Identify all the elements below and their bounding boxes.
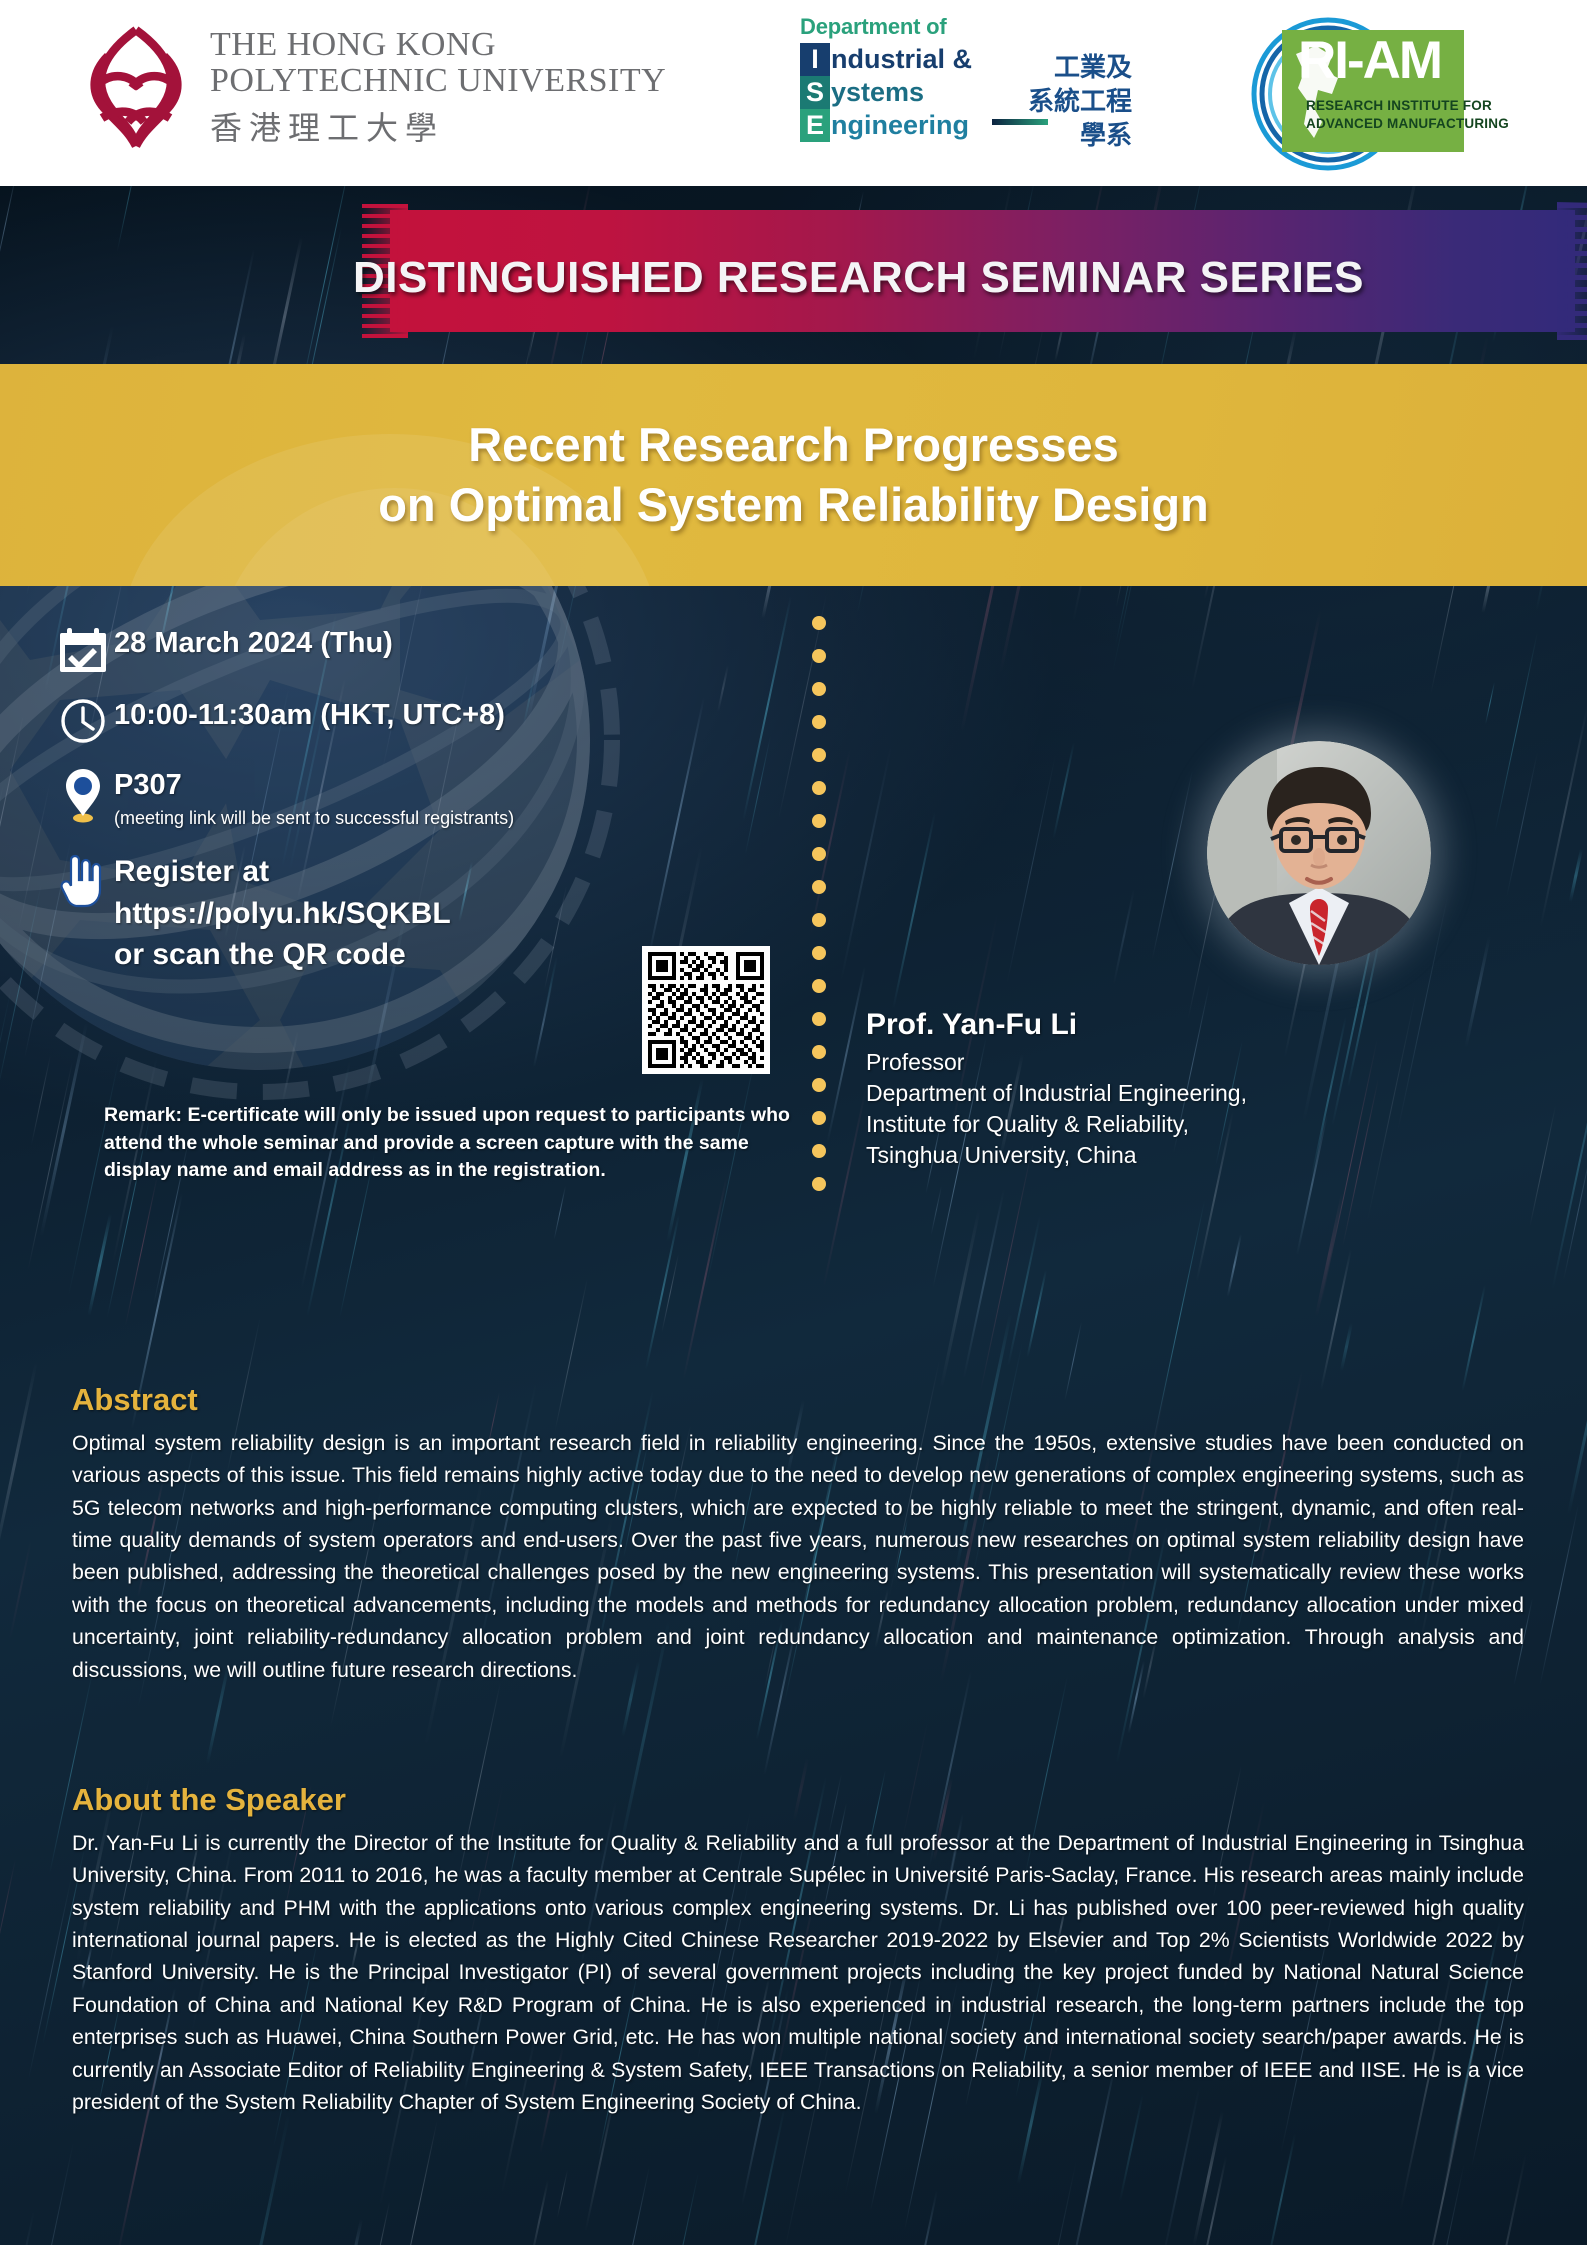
clock-icon [52, 696, 114, 744]
ise-chinese-line2: 系統工程 [1022, 86, 1132, 120]
event-date-row: 28 March 2024 (Thu) [52, 624, 782, 674]
about-speaker-section: About the Speaker Dr. Yan-Fu Li is curre… [72, 1782, 1524, 2118]
pointing-hand-icon [52, 851, 114, 909]
polyu-name-line2: POLYTECHNIC UNIVERSITY [210, 63, 666, 99]
riam-subtitle-line2: ADVANCED MANUFACTURING [1306, 116, 1509, 131]
certificate-remark: Remark: E-certificate will only be issue… [104, 1102, 804, 1185]
ise-word-industrial: ndustrial & [831, 43, 972, 76]
seminar-series-banner: DISTINGUISHED RESEARCH SEMINAR SERIES [0, 186, 1587, 364]
ise-department-logo: Department of I S E ndustrial & ystems n… [800, 14, 972, 142]
riam-subtitle-line1: RESEARCH INSTITUTE FOR [1306, 98, 1492, 113]
seminar-series-label: DISTINGUISHED RESEARCH SEMINAR SERIES [353, 253, 1364, 303]
ise-chinese-line1: 工業及 [1022, 52, 1132, 86]
abstract-section: Abstract Optimal system reliability desi… [72, 1382, 1524, 1686]
registration-qr-code[interactable] [642, 946, 770, 1074]
abstract-heading: Abstract [72, 1382, 1524, 1418]
register-url[interactable]: https://polyu.hk/SQKBL [114, 893, 451, 934]
ise-word-systems: ystems [831, 76, 972, 109]
event-venue: P307 [114, 768, 514, 803]
seminar-title-line1: Recent Research Progresses [468, 415, 1119, 475]
register-qr-hint: or scan the QR code [114, 934, 451, 975]
speaker-info: Prof. Yan-Fu Li Professor Department of … [866, 1006, 1406, 1172]
event-venue-note: (meeting link will be sent to successful… [114, 807, 514, 830]
location-pin-icon [52, 766, 114, 824]
banner-text-wrapper: DISTINGUISHED RESEARCH SEMINAR SERIES [0, 186, 1587, 364]
event-time-row: 10:00-11:30am (HKT, UTC+8) [52, 696, 782, 744]
riam-logo: RI-AM RESEARCH INSTITUTE FOR ADVANCED MA… [1240, 14, 1470, 174]
seminar-poster: THE HONG KONG POLYTECHNIC UNIVERSITY 香港理… [0, 0, 1587, 2245]
ise-initial-e: E [800, 109, 830, 142]
abstract-text: Optimal system reliability design is an … [72, 1427, 1524, 1686]
calendar-check-icon [52, 624, 114, 674]
seminar-title-line2: on Optimal System Reliability Design [378, 475, 1209, 535]
event-details-list: 28 March 2024 (Thu) 10:00-11:30am (HKT, … [52, 624, 782, 975]
seminar-title-band: Recent Research Progresses on Optimal Sy… [0, 364, 1587, 586]
speaker-role: Professor [866, 1047, 1406, 1078]
dotted-divider [812, 616, 826, 1210]
speaker-name: Prof. Yan-Fu Li [866, 1006, 1406, 1044]
ise-chinese-line3: 學系 [1022, 120, 1132, 154]
speaker-affiliation-line3: Tsinghua University, China [866, 1140, 1406, 1171]
polyu-emblem-icon [78, 22, 194, 154]
event-date: 28 March 2024 (Thu) [114, 626, 393, 661]
speaker-affiliation-line1: Department of Industrial Engineering, [866, 1078, 1406, 1109]
riam-title: RI-AM [1298, 34, 1441, 87]
register-label: Register at [114, 851, 451, 892]
ise-word-engineering: ngineering [831, 109, 972, 142]
ise-initial-i: I [800, 43, 830, 76]
ise-chinese-name: 工業及 系統工程 學系 [1022, 52, 1132, 153]
about-speaker-text: Dr. Yan-Fu Li is currently the Director … [72, 1827, 1524, 2118]
event-venue-row: P307 (meeting link will be sent to succe… [52, 766, 782, 829]
speaker-affiliation-line2: Institute for Quality & Reliability, [866, 1109, 1406, 1140]
speaker-photo [1207, 741, 1431, 965]
ise-department-of-label: Department of [800, 14, 972, 40]
polyu-logo: THE HONG KONG POLYTECHNIC UNIVERSITY 香港理… [78, 22, 666, 154]
logo-header: THE HONG KONG POLYTECHNIC UNIVERSITY 香港理… [0, 0, 1587, 186]
ise-initial-s: S [800, 76, 830, 109]
registration-text: Register at https://polyu.hk/SQKBL or sc… [114, 851, 451, 975]
about-speaker-heading: About the Speaker [72, 1782, 1524, 1818]
event-time: 10:00-11:30am (HKT, UTC+8) [114, 698, 505, 733]
polyu-name-line1: THE HONG KONG [210, 27, 666, 63]
event-info-zone: 28 March 2024 (Thu) 10:00-11:30am (HKT, … [0, 586, 1587, 1366]
polyu-name-chinese: 香港理工大學 [210, 103, 666, 149]
